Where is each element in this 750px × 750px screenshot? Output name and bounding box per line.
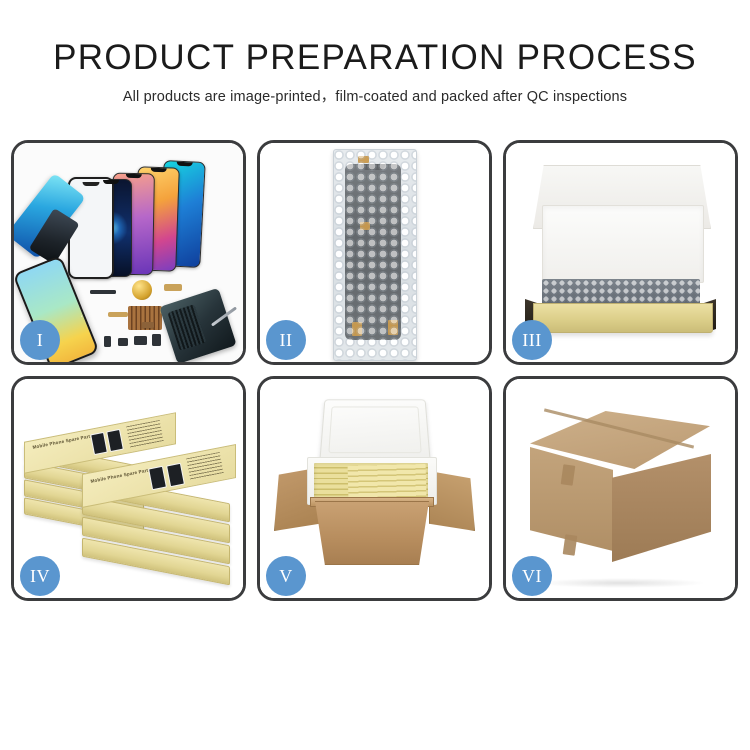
process-step-5[interactable]: V bbox=[257, 376, 492, 601]
box-stack-group: Mobile Phone Spare Parts Mobile Phone Sp… bbox=[22, 393, 240, 585]
process-step-2[interactable]: II bbox=[257, 140, 492, 365]
phone-fan-group bbox=[76, 159, 241, 271]
styrofoam-lid-icon bbox=[319, 399, 430, 461]
kraft-box-front-icon bbox=[533, 303, 713, 333]
tape-icon bbox=[388, 320, 398, 335]
foam-sheet-icon bbox=[542, 205, 704, 283]
carton-body-icon bbox=[310, 501, 434, 565]
process-step-1[interactable]: I bbox=[11, 140, 246, 365]
flex-cable-icon bbox=[164, 284, 182, 291]
step-badge: III bbox=[512, 320, 552, 360]
tape-icon bbox=[360, 222, 370, 230]
notch-icon bbox=[151, 168, 167, 173]
page-header: PRODUCT PREPARATION PROCESS All products… bbox=[0, 0, 750, 107]
chip-icon bbox=[142, 322, 154, 328]
packed-boxes-icon bbox=[348, 464, 427, 499]
small-part-icon bbox=[104, 336, 111, 347]
process-step-4[interactable]: Mobile Phone Spare Parts Mobile Phone Sp… bbox=[11, 376, 246, 601]
step-badge: II bbox=[266, 320, 306, 360]
step-badge: IV bbox=[20, 556, 60, 596]
tape-icon bbox=[358, 156, 369, 163]
small-part-icon bbox=[118, 338, 128, 346]
bubble-wrap-bag-icon bbox=[333, 149, 417, 361]
process-step-3[interactable]: III bbox=[503, 140, 738, 365]
notch-icon bbox=[103, 180, 119, 184]
wrapped-screen-icon bbox=[345, 164, 401, 340]
tape-icon bbox=[352, 322, 362, 336]
step-badge: VI bbox=[512, 556, 552, 596]
speaker-module-icon bbox=[132, 280, 152, 300]
connector-strip-icon bbox=[90, 290, 116, 294]
battery-part-icon bbox=[134, 336, 147, 345]
process-step-6[interactable]: VI bbox=[503, 376, 738, 601]
page-subtitle: All products are image-printed，film-coat… bbox=[0, 87, 750, 107]
step-badge: V bbox=[266, 556, 306, 596]
notch-icon bbox=[177, 162, 193, 167]
flex-cable-icon bbox=[108, 312, 128, 317]
page-title: PRODUCT PREPARATION PROCESS bbox=[0, 38, 750, 78]
process-grid: I II III bbox=[11, 140, 739, 601]
small-part-icon bbox=[152, 334, 161, 346]
step-badge: I bbox=[20, 320, 60, 360]
drop-shadow bbox=[536, 578, 706, 588]
notch-icon bbox=[126, 174, 142, 178]
